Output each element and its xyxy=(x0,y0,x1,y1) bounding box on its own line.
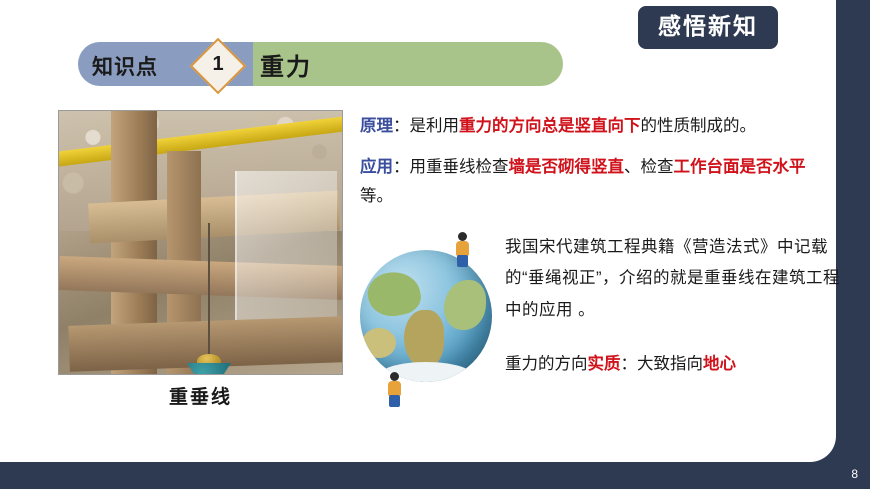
principle-text-1: 是利用 xyxy=(410,117,460,135)
application-highlight-1: 墙是否砌得竖直 xyxy=(509,158,625,176)
application-text-1: 用重垂线检查 xyxy=(410,158,509,176)
knowledge-point-title: 重力 xyxy=(260,47,312,82)
figure-body xyxy=(388,381,401,396)
figure-head xyxy=(390,372,399,381)
knowledge-point-banner: 知识点 1 重力 xyxy=(78,42,563,86)
person-figure-top-icon xyxy=(452,232,474,266)
knowledge-point-label: 知识点 xyxy=(92,51,158,81)
figure-body xyxy=(456,241,469,256)
figure-legs xyxy=(389,395,400,407)
principle-colon: ： xyxy=(393,117,410,135)
globe-illustration-block: 我国宋代建筑工程典籍《营造法式》中记载的“垂绳视正”，介绍的就是重垂线在建筑工程… xyxy=(360,232,840,432)
globe-icon xyxy=(360,250,492,382)
principle-label: 原理 xyxy=(360,117,393,135)
application-label: 应用 xyxy=(360,158,393,176)
conclusion-highlight-1: 实质 xyxy=(588,355,621,373)
plumb-line-figure: 重垂线 xyxy=(58,110,343,375)
plumb-line-photo xyxy=(58,110,343,375)
principle-text-2: 的性质制成的。 xyxy=(641,117,757,135)
conclusion-text-1: 重力的方向 xyxy=(505,355,588,373)
figure-legs xyxy=(457,255,468,267)
application-colon: ： xyxy=(393,158,410,176)
conclusion-highlight-2: 地心 xyxy=(703,355,736,373)
globe-landmass-d xyxy=(362,328,396,358)
principle-highlight-1: 重力的方向总是竖直向下 xyxy=(459,117,641,135)
figure-head xyxy=(458,232,467,241)
globe-landmass-b xyxy=(404,310,444,368)
knowledge-point-number: 1 xyxy=(198,46,238,82)
conclusion-text-2: ：大致指向 xyxy=(621,355,704,373)
page-number: 8 xyxy=(851,467,858,481)
historical-text-paragraph: 我国宋代建筑工程典籍《营造法式》中记载的“垂绳视正”，介绍的就是重垂线在建筑工程… xyxy=(505,232,840,326)
person-figure-bottom-icon xyxy=(384,372,406,410)
principle-paragraph: 原理：是利用重力的方向总是竖直向下的性质制成的。 xyxy=(360,112,830,141)
application-highlight-2: 工作台面是否水平 xyxy=(674,158,806,176)
application-text-3: 等。 xyxy=(360,187,393,205)
application-paragraph: 应用：用重垂线检查墙是否砌得竖直、检查工作台面是否水平等。 xyxy=(360,153,830,211)
section-header-tab: 感悟新知 xyxy=(638,6,778,49)
conclusion-paragraph: 重力的方向实质：大致指向地心 xyxy=(505,350,840,378)
photo-plumb-string xyxy=(208,223,210,363)
explanation-text-column: 原理：是利用重力的方向总是竖直向下的性质制成的。 应用：用重垂线检查墙是否砌得竖… xyxy=(360,112,830,223)
application-text-2: 、检查 xyxy=(624,158,674,176)
globe-landmass-c xyxy=(444,280,486,330)
photo-caption: 重垂线 xyxy=(58,382,343,409)
slide-canvas: 感悟新知 知识点 1 重力 重垂线 原理：是利用重力的方向总是竖直向下的性质制成… xyxy=(0,0,870,489)
